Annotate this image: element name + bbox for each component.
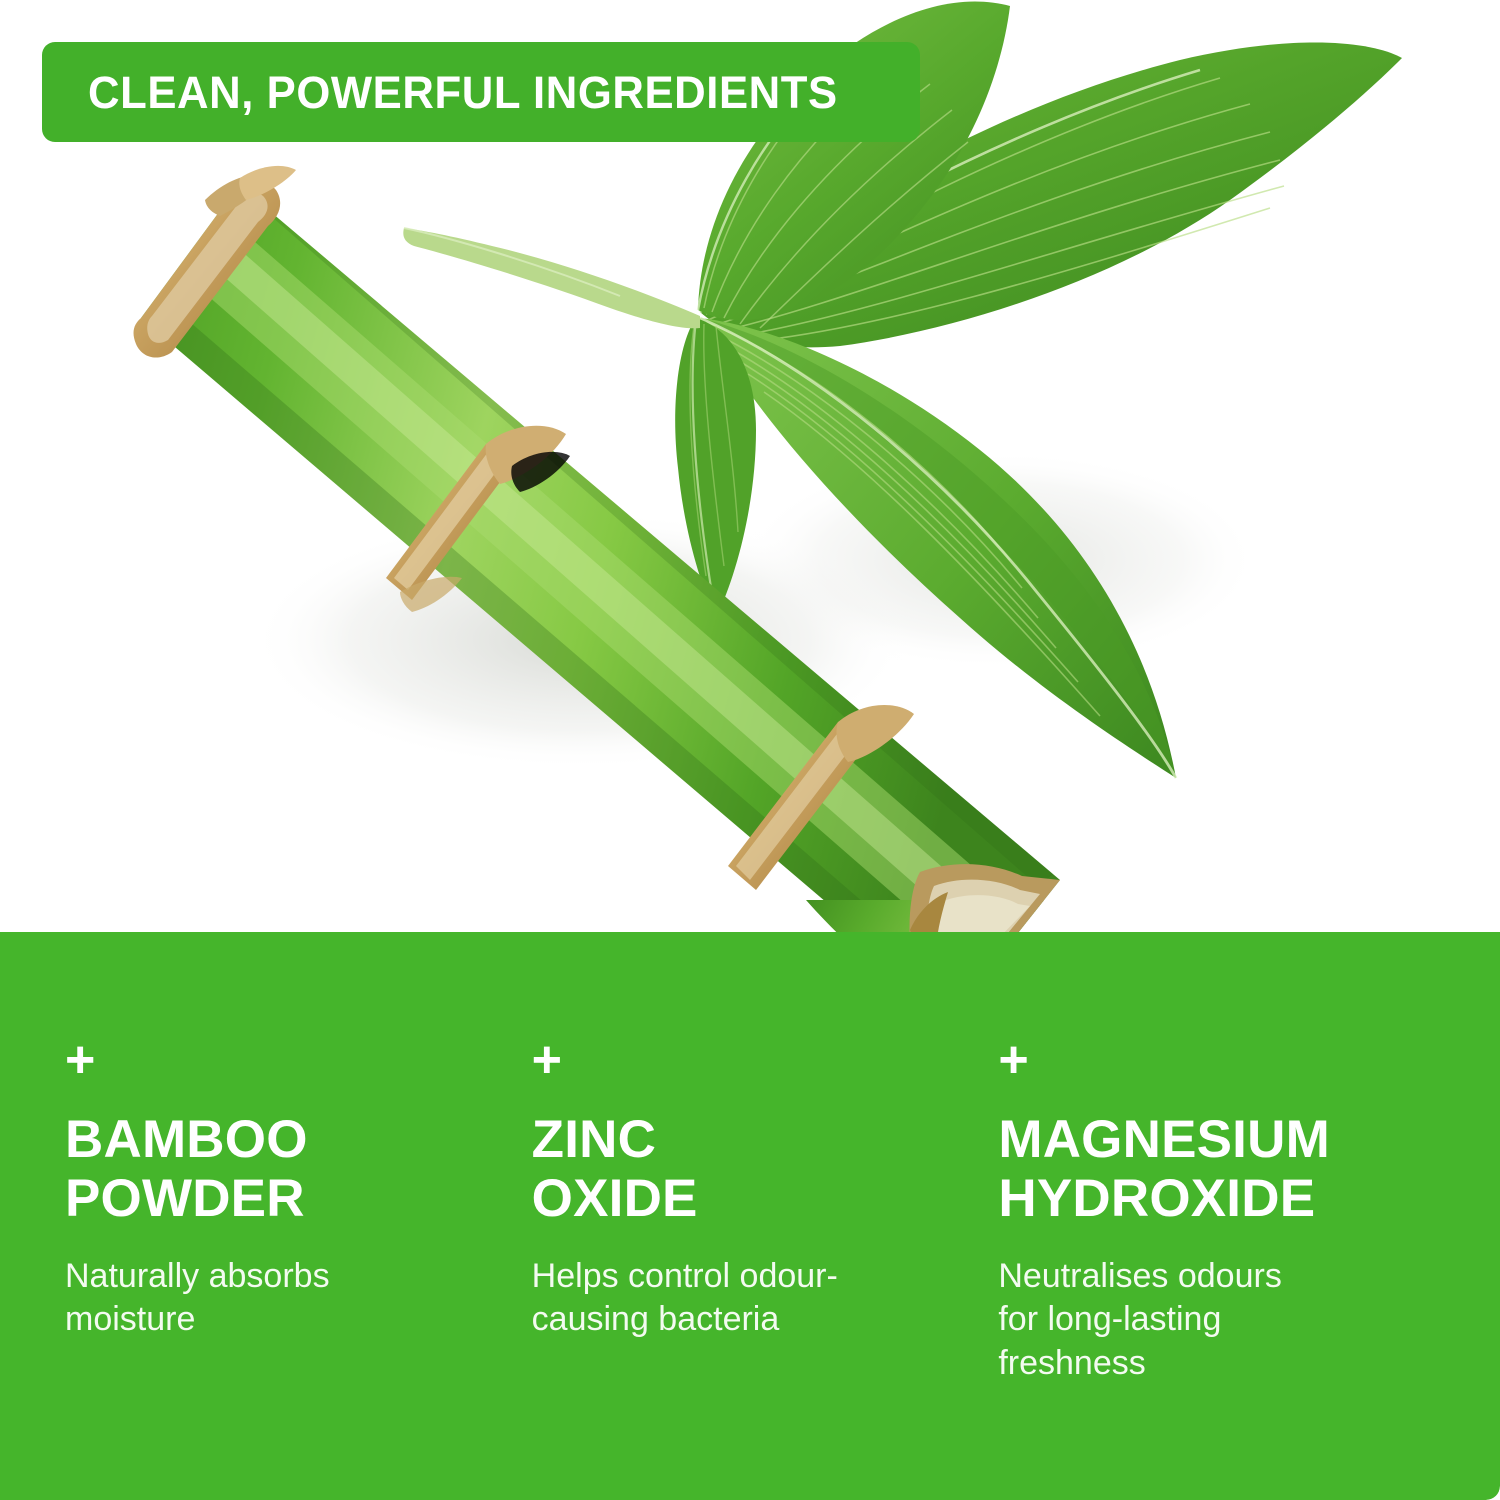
ingredients-panel: + BAMBOO POWDER Naturally absorbs moistu… (0, 932, 1500, 1500)
ingredient-title: ZINC OXIDE (532, 1110, 931, 1229)
banner-title: CLEAN, POWERFUL INGREDIENTS (88, 70, 838, 115)
ingredient-title: MAGNESIUM HYDROXIDE (998, 1110, 1397, 1229)
ingredients-infographic: CLEAN, POWERFUL INGREDIENTS + BAMBOO POW… (0, 0, 1500, 1500)
ingredient-column-magnesium-hydroxide: + MAGNESIUM HYDROXIDE Neutralises odours… (998, 1040, 1465, 1385)
header-banner: CLEAN, POWERFUL INGREDIENTS (42, 42, 920, 142)
ingredient-description: Neutralises odours for long-lasting fres… (998, 1255, 1397, 1386)
ingredient-column-zinc-oxide: + ZINC OXIDE Helps control odour- causin… (532, 1040, 999, 1385)
ingredient-columns: + BAMBOO POWDER Naturally absorbs moistu… (65, 1040, 1465, 1385)
ingredient-description: Naturally absorbs moisture (65, 1255, 464, 1342)
plus-icon: + (998, 1040, 1397, 1084)
ingredient-column-bamboo-powder: + BAMBOO POWDER Naturally absorbs moistu… (65, 1040, 532, 1385)
ingredient-description: Helps control odour- causing bacteria (532, 1255, 931, 1342)
ingredient-title: BAMBOO POWDER (65, 1110, 464, 1229)
plus-icon: + (532, 1040, 931, 1084)
plus-icon: + (65, 1040, 464, 1084)
